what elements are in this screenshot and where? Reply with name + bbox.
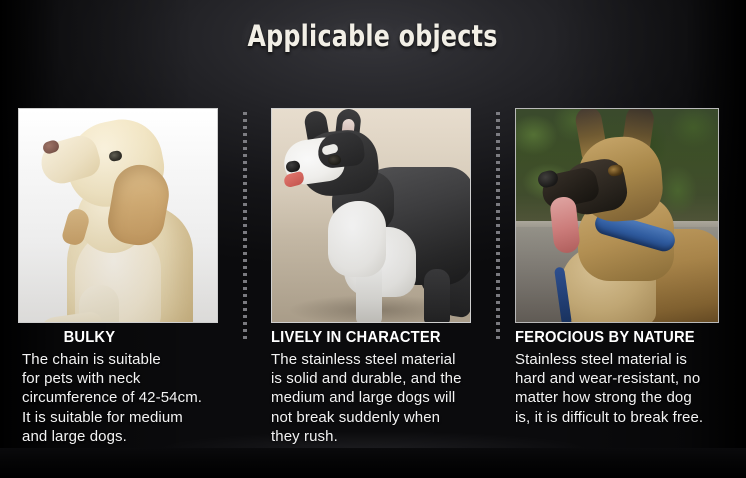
applicable-objects-banner: Applicable objects BULKY The chain is su… (0, 0, 746, 478)
column-heading-lively-in-character: LIVELY IN CHARACTER (271, 329, 485, 347)
feature-column-lively-in-character: LIVELY IN CHARACTER The stainless steel … (248, 108, 496, 446)
floor-strip (0, 448, 746, 478)
column-body-lively-in-character: The stainless steel material is solid an… (271, 350, 496, 446)
column-body-ferocious-by-nature: Stainless steel material is hard and wea… (515, 350, 746, 427)
feature-column-ferocious-by-nature: FEROCIOUS BY NATURE Stainless steel mate… (496, 108, 746, 446)
photo-siberian-husky-puppy (271, 108, 471, 323)
feature-columns: BULKY The chain is suitable for pets wit… (0, 108, 746, 446)
column-divider-2 (496, 112, 500, 340)
photo-german-shepherd-dog (515, 108, 719, 323)
photo-yellow-labrador-puppy (18, 108, 218, 323)
column-divider-1 (243, 112, 247, 340)
banner-header: Applicable objects (0, 0, 746, 72)
page-title: Applicable objects (248, 19, 498, 53)
column-heading-bulky: BULKY (18, 329, 237, 347)
column-body-bulky: The chain is suitable for pets with neck… (18, 350, 248, 446)
column-heading-ferocious-by-nature: FEROCIOUS BY NATURE (515, 329, 734, 347)
feature-column-bulky: BULKY The chain is suitable for pets wit… (0, 108, 248, 446)
